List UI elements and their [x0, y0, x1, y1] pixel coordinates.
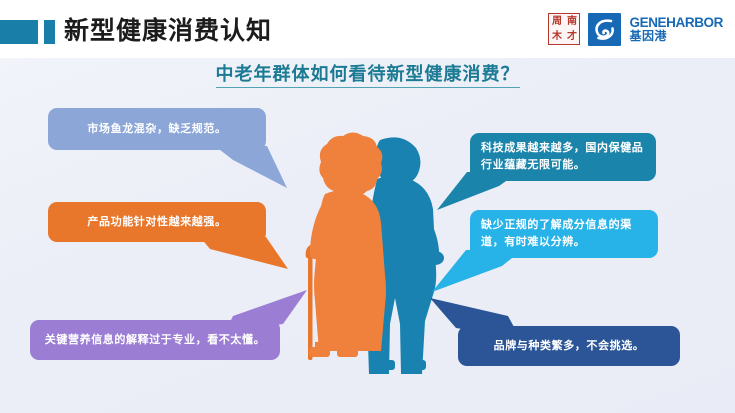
brand-name-cn: 基因港	[629, 30, 723, 43]
speech-bubble-tech-results[interactable]: 科技成果越来越多，国内保健品行业蕴藏无限可能。	[470, 133, 656, 181]
seal-char-3: 木	[549, 29, 564, 44]
bubble-2-tail	[200, 237, 292, 277]
bubble-1-tail	[215, 146, 295, 192]
speech-bubble-lack-of-channels[interactable]: 缺少正规的了解成分信息的渠道，有时难以分辨。	[470, 210, 658, 258]
nankai-seal-icon: 周 南 木 才	[548, 13, 580, 45]
geneharbor-mark-icon	[588, 13, 621, 46]
slide-header: 新型健康消费认知 周 南 木 才 GENEHARBOR 基因港	[0, 0, 735, 58]
logo-group: 周 南 木 才 GENEHARBOR 基因港	[548, 11, 723, 47]
speech-bubble-nutrition-info[interactable]: 关键营养信息的解释过于专业，看不太懂。	[30, 320, 280, 360]
bubble-2-text: 产品功能针对性越来越强。	[87, 214, 226, 231]
page-title: 新型健康消费认知	[64, 12, 272, 50]
slide-canvas: 新型健康消费认知 周 南 木 才 GENEHARBOR 基因港 中老年群体如何看…	[0, 0, 735, 413]
bubble-1-text: 市场鱼龙混杂，缺乏规范。	[87, 121, 226, 138]
seal-char-2: 南	[564, 14, 579, 29]
elderly-couple-silhouette	[285, 132, 457, 380]
walking-cane-icon	[308, 246, 316, 360]
bubble-3-text: 关键营养信息的解释过于专业，看不太懂。	[45, 332, 265, 349]
slide-subtitle: 中老年群体如何看待新型健康消费？	[0, 60, 735, 86]
geneharbor-wordmark: GENEHARBOR 基因港	[629, 16, 723, 43]
speech-bubble-too-many-brands[interactable]: 品牌与种类繁多，不会挑选。	[458, 326, 680, 366]
bubble-5-text: 缺少正规的了解成分信息的渠道，有时难以分辨。	[481, 217, 647, 251]
speech-bubble-product-function[interactable]: 产品功能针对性越来越强。	[48, 202, 266, 242]
seal-char-1: 周	[549, 14, 564, 29]
header-accent-block-narrow	[44, 20, 55, 44]
speech-bubble-market-chaos[interactable]: 市场鱼龙混杂，缺乏规范。	[48, 108, 266, 150]
brand-name-en: GENEHARBOR	[629, 16, 723, 30]
seal-char-4: 才	[564, 29, 579, 44]
header-accent-block-wide	[0, 20, 38, 44]
subtitle-text: 中老年群体如何看待新型健康消费？	[216, 64, 520, 88]
bubble-6-text: 品牌与种类繁多，不会挑选。	[494, 338, 645, 355]
bubble-4-text: 科技成果越来越多，国内保健品行业蕴藏无限可能。	[481, 140, 645, 174]
elderly-woman-figure	[309, 133, 386, 358]
